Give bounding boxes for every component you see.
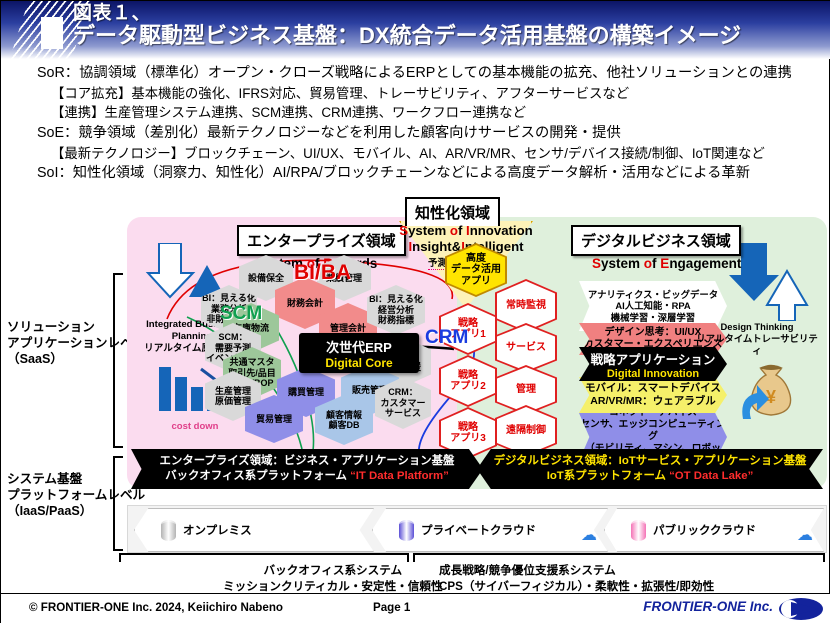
cloud-icon: ☁ [797, 525, 813, 545]
scm-label: SCM [220, 303, 262, 325]
axis-solution-line1: ソリューション [7, 319, 145, 335]
strategy-subtitle: Digital Innovation [607, 368, 699, 380]
axis-label-solution: ソリューション アプリケーションレベル （SaaS） [7, 319, 145, 367]
frontier-one-logo-icon [779, 598, 823, 620]
center-hex-inner: 遠隔制御 [497, 407, 555, 455]
infra-cell[interactable]: オンプレミス [134, 508, 374, 552]
center-hex-inner: 高度データ活用アプリ [447, 245, 505, 295]
header-square-decoration [41, 17, 63, 49]
axis-platform-line3: （IaaS/PaaS） [7, 503, 145, 519]
band-right-line2: IoT系プラットフォーム “OT Data Lake” [547, 469, 754, 484]
center-hex-inner: 戦略アプリ2 [441, 357, 495, 405]
intro-line-5: 【最新テクノロジー】ブロックチェーン、UI/UX、モバイル、AI、AR/VR/M… [37, 144, 827, 164]
design-thinking-en: Design Thinking [693, 321, 821, 333]
intro-line-4: SoE：競争領域（差別化）最新テクノロジーなどを利用した顧客向けサービスの開発・… [37, 123, 827, 144]
bracket-backoffice [119, 553, 409, 562]
cloud-icon: ☁ [581, 525, 597, 545]
page-footer: © FRONTIER-ONE Inc. 2024, Keiichiro Nabe… [1, 593, 830, 623]
erp-subtitle: Digital Core [325, 356, 392, 370]
axis-platform-line1: システム基盤 [7, 471, 145, 487]
band-left-line1: エンタープライズ領域：ビジネス・アプリケーション基盤 [160, 454, 455, 469]
infrastructure-row: オンプレミスプライベートクラウド☁パブリッククラウド☁ [127, 505, 827, 553]
axis-platform-line2: プラットフォームレベル [7, 487, 145, 503]
bracket-growth [413, 553, 825, 562]
band-left-line2: バックオフィス系プラットフォーム “IT Data Platform” [165, 469, 449, 484]
design-thinking-jp: リアルタイムトレーサビリティ [693, 333, 821, 357]
infra-label: オンプレミス [183, 522, 252, 538]
infra-label: プライベートクラウド [421, 522, 536, 538]
band-right-line1: デジタルビジネス領域：IoTサービス・アプリケーション基盤 [494, 454, 807, 469]
platform-band-enterprise: エンタープライズ領域：ビジネス・アプリケーション基盤 バックオフィス系プラットフ… [131, 449, 483, 489]
infra-label: パブリッククラウド [653, 522, 756, 538]
footer-page-number: Page 1 [373, 601, 410, 614]
infra-cell[interactable]: パブリッククラウド☁ [604, 508, 824, 552]
axis-label-platform: システム基盤 プラットフォームレベル （IaaS/PaaS） [7, 471, 145, 519]
infra-cell[interactable]: プライベートクラウド☁ [372, 508, 608, 552]
database-cylinder-icon [399, 520, 414, 541]
money-bag-icon: ¥ [735, 357, 809, 423]
caption-growth: 成長戦略/競争優位支援系システム CPS（サイバーフィジカル）・柔軟性・拡張性/… [439, 563, 714, 594]
crm-label: CRM [425, 327, 468, 349]
soi-line1: System of Innovation [395, 223, 537, 239]
axis-solution-line2: アプリケーションレベル [7, 335, 145, 351]
caption-backoffice: バックオフィス系システム ミッションクリティカル・安定性・信頼性 [223, 563, 443, 594]
intro-line-2: 【コア拡充】基本機能の強化、IFRS対応、貿易管理、トレーサビリティ、アフターサ… [37, 84, 827, 104]
next-gen-erp-badge: 次世代ERP Digital Core [299, 333, 419, 373]
bracket-solution-level [113, 273, 123, 448]
caption-growth-line1: 成長戦略/競争優位支援系システム [439, 563, 714, 579]
page-title: 図表１、 データ駆動型ビジネス基盤：DX統合データ活用基盤の構築イメージ [73, 3, 813, 49]
intro-line-3: 【連携】生産管理システム連携、SCM連携、CRM連携、ワークフロー連携など [37, 103, 827, 123]
caption-backoffice-line2: ミッションクリティカル・安定性・信頼性 [223, 579, 443, 595]
label-enterprise-area: エンタープライズ領域 [237, 225, 406, 256]
footer-brand-name: FRONTIER-ONE Inc. [643, 599, 773, 614]
intro-text-block: SoR：協調領域（標準化）オープン・クローズ戦略によるERPとしての基本機能の拡… [37, 63, 827, 184]
bracket-platform-level [113, 456, 123, 551]
erp-title: 次世代ERP [326, 337, 392, 356]
intro-line-1: SoR：協調領域（標準化）オープン・クローズ戦略によるERPとしての基本機能の拡… [37, 63, 827, 84]
svg-text:¥: ¥ [766, 387, 776, 407]
title-line-2: データ駆動型ビジネス基盤：DX統合データ活用基盤の構築イメージ [73, 24, 813, 49]
chevron-mobile[interactable]: モバイル：スマートデバイスAR/VR/MR：ウェアラブル [579, 377, 727, 413]
database-cylinder-icon [631, 520, 646, 541]
title-line-1: 図表１、 [73, 3, 813, 24]
label-digital-area: デジタルビジネス領域 [571, 225, 741, 256]
bi-ba-label: BI/BA [294, 261, 351, 285]
intro-line-6: SoI：知性化領域（洞察力、知性化）AI/RPA/ブロックチェーンなどによる高度… [37, 163, 827, 184]
platform-band-digital: デジタルビジネス領域：IoTサービス・アプリケーション基盤 IoT系プラットフォ… [477, 449, 823, 489]
page-header: 図表１、 データ駆動型ビジネス基盤：DX統合データ活用基盤の構築イメージ [1, 1, 830, 59]
center-hex-inner: サービス [497, 325, 555, 371]
label-intelligence-area: 知性化領域 [405, 197, 500, 226]
caption-backoffice-line1: バックオフィス系システム [223, 563, 443, 579]
caption-growth-line2: CPS（サイバーフィジカル）・柔軟性・拡張性/即効性 [439, 579, 714, 595]
footer-copyright: © FRONTIER-ONE Inc. 2024, Keiichiro Nabe… [29, 601, 283, 614]
diagram-stage: Integrated Business Planning リアルタイム原価管理 … [127, 199, 827, 507]
caption-system-of-engagement: System of Engagement [592, 256, 741, 271]
cost-down-label: cost down [147, 421, 243, 432]
axis-solution-line3: （SaaS） [7, 351, 145, 367]
database-cylinder-icon [161, 520, 176, 541]
design-thinking-label: Design Thinking リアルタイムトレーサビリティ [693, 321, 821, 358]
